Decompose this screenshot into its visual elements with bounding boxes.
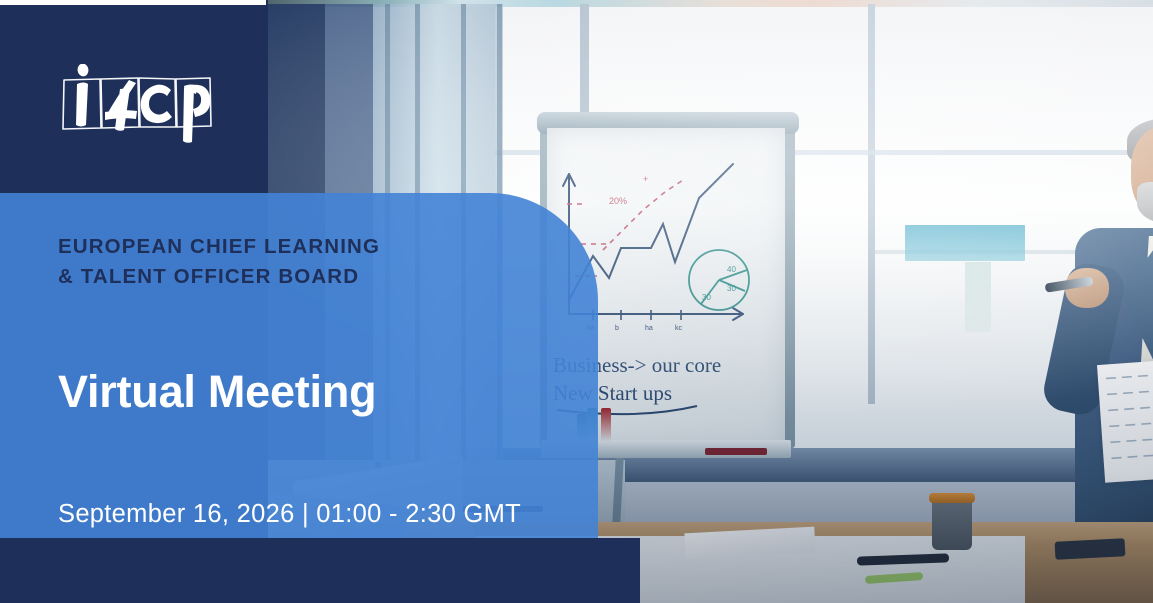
event-headline: Virtual Meeting [58, 292, 578, 415]
navy-bottom-band [0, 538, 640, 603]
marker-pen [601, 408, 611, 442]
coffee-cup [932, 498, 972, 550]
svg-text:kc: kc [675, 325, 683, 332]
outside-building [905, 225, 1025, 261]
svg-text:+: + [643, 174, 648, 184]
smartphone [1055, 538, 1126, 560]
event-series-line2: & TALENT OFFICER BOARD [58, 262, 578, 292]
marker-pen [705, 448, 767, 455]
event-banner: 20% + 40 30 30 kab hakc Business-> our c… [0, 0, 1153, 603]
banner-copy: EUROPEAN CHIEF LEARNING & TALENT OFFICER… [58, 232, 578, 529]
event-datetime: September 16, 2026 | 01:00 - 2:30 GMT [58, 415, 578, 529]
svg-text:ha: ha [645, 325, 653, 332]
svg-text:30: 30 [727, 284, 736, 293]
top-white-strip [0, 0, 266, 5]
outside-building [965, 262, 991, 332]
coffee-cup-lid [929, 493, 975, 503]
svg-text:40: 40 [727, 265, 736, 274]
event-series-title: EUROPEAN CHIEF LEARNING & TALENT OFFICER… [58, 232, 578, 292]
held-papers [1097, 359, 1153, 483]
event-series-line1: EUROPEAN CHIEF LEARNING [58, 232, 578, 262]
window-mullion [868, 4, 875, 404]
i4cp-logo[interactable] [58, 64, 213, 146]
svg-text:20%: 20% [609, 196, 627, 206]
svg-text:b: b [615, 325, 619, 332]
svg-text:30: 30 [702, 293, 711, 302]
